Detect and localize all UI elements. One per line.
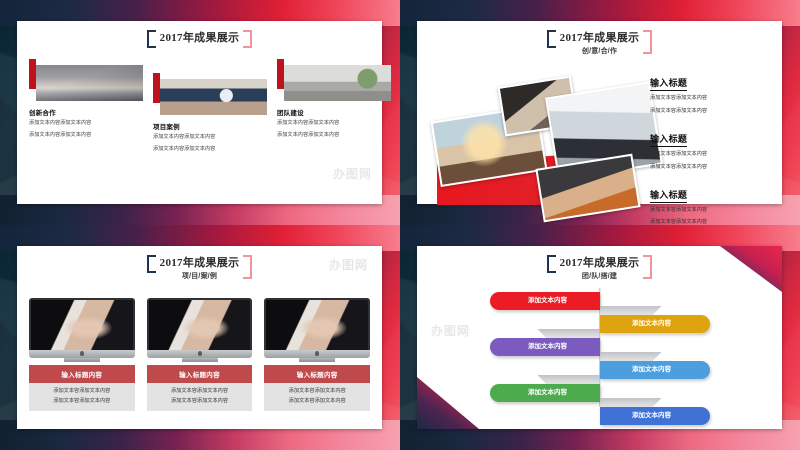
column-line-2: 添加文本容添加文本内容	[149, 397, 251, 407]
monitor-stand	[299, 358, 335, 362]
bullet-item[interactable]: 输入标题 添加文本容添加文本内容 添加文本容添加文本内容	[650, 185, 768, 226]
column-text-box: 添加文本容添加文本内容 添加文本容添加文本内容	[29, 383, 135, 411]
feature-card[interactable]: 团队建设 添加文本内容添加文本内容 添加文本内容添加文本内容	[277, 65, 391, 140]
card-line-1: 添加文本内容添加文本内容	[29, 119, 143, 129]
bullet-line-2: 添加文本容添加文本内容	[650, 107, 768, 117]
column-line-2: 添加文本容添加文本内容	[266, 397, 368, 407]
bullet-line-1: 添加文本容添加文本内容	[650, 150, 768, 160]
title-main-text: 2017年成果展示	[160, 32, 240, 44]
handshake-monitor-photo	[29, 298, 135, 350]
bracket-left-icon	[547, 30, 556, 48]
slide-title-2: 2017年成果展示 创/意/合/作	[417, 29, 782, 55]
slide-thumbnail-4[interactable]: 2017年成果展示 团/队/搭/建 添加文本内容 添加文本内容 添加文本内容	[400, 225, 800, 450]
column-line-1: 添加文本容添加文本内容	[266, 387, 368, 397]
card-line-1: 添加文本内容添加文本内容	[277, 119, 391, 129]
ribbon-fold	[538, 375, 600, 384]
bullet-text-list: 输入标题 添加文本容添加文本内容 添加文本容添加文本内容 输入标题 添加文本容添…	[650, 73, 768, 225]
bracket-right-icon	[643, 255, 652, 279]
slide-thumbnail-3[interactable]: 2017年成果展示 项/目/案/例 输入标题内容 添加文本容添加文本内容 添加文…	[0, 225, 400, 450]
bullet-line-1: 添加文本容添加文本内容	[650, 94, 768, 104]
hand-tablet-photo	[36, 65, 143, 101]
bullet-line-2: 添加文本容添加文本内容	[650, 218, 768, 225]
bracket-left-icon	[547, 255, 556, 273]
column-line-2: 添加文本容添加文本内容	[31, 397, 133, 407]
title-main-text: 2017年成果展示	[160, 257, 240, 269]
ribbon-pill[interactable]: 添加文本内容	[490, 292, 600, 310]
ribbon-pill-list: 添加文本内容 添加文本内容 添加文本内容 添加文本内容 添加文本内容	[417, 292, 782, 430]
ribbon-row: 添加文本内容	[417, 361, 782, 384]
bracket-right-icon	[243, 30, 252, 48]
bullet-heading: 输入标题	[650, 188, 687, 203]
accent-bar	[277, 59, 284, 89]
column-title-bar: 输入标题内容	[29, 365, 135, 383]
column-title-bar: 输入标题内容	[264, 365, 370, 383]
bullet-item[interactable]: 输入标题 添加文本容添加文本内容 添加文本容添加文本内容	[650, 73, 768, 117]
card-line-1: 添加文本内容添加文本内容	[153, 133, 267, 143]
monitor-column[interactable]: 输入标题内容 添加文本容添加文本内容 添加文本容添加文本内容	[29, 298, 135, 411]
column-text-box: 添加文本容添加文本内容 添加文本容添加文本内容	[147, 383, 253, 411]
monitor-graphic	[264, 298, 370, 362]
feature-card[interactable]: 创新合作 添加文本内容添加文本内容 添加文本内容添加文本内容	[29, 65, 143, 140]
card-line-2: 添加文本内容添加文本内容	[277, 131, 391, 141]
ribbon-pill[interactable]: 添加文本内容	[600, 315, 710, 333]
bracket-left-icon	[147, 30, 156, 48]
bracket-right-icon	[243, 255, 252, 279]
ribbon-fold	[600, 352, 662, 361]
column-text-box: 添加文本容添加文本内容 添加文本容添加文本内容	[264, 383, 370, 411]
ribbon-row: 添加文本内容	[417, 338, 782, 361]
handshake-monitor-photo	[147, 298, 253, 350]
bracket-right-icon	[643, 30, 652, 54]
column-line-1: 添加文本容添加文本内容	[149, 387, 251, 397]
bullet-line-2: 添加文本容添加文本内容	[650, 163, 768, 173]
ribbon-pill[interactable]: 添加文本内容	[600, 407, 710, 425]
bullet-line-1: 添加文本容添加文本内容	[650, 206, 768, 216]
apple-logo-icon	[80, 351, 84, 356]
ribbon-pill[interactable]: 添加文本内容	[600, 361, 710, 379]
title-main-text: 2017年成果展示	[560, 32, 640, 44]
ribbon-row: 添加文本内容	[417, 315, 782, 338]
slide-thumbnail-2[interactable]: 2017年成果展示 创/意/合/作 输入标题 添加文本容添加文本内容 添加文本容…	[400, 0, 800, 225]
ribbon-row: 添加文本内容	[417, 384, 782, 407]
ribbon-fold	[600, 398, 662, 407]
monitor-stand	[182, 358, 218, 362]
ribbon-pill[interactable]: 添加文本内容	[490, 384, 600, 402]
monitor-column[interactable]: 输入标题内容 添加文本容添加文本内容 添加文本容添加文本内容	[264, 298, 370, 411]
title-subtitle-text: 项/目/案/例	[160, 273, 240, 280]
handshake-monitor-photo	[264, 298, 370, 350]
apple-logo-icon	[198, 351, 202, 356]
slide-thumbnail-grid: 2017年成果展示 创新合作 添加文本内容添加文本内容 添加文本内容添加文本内容	[0, 0, 800, 450]
watermark: 办图网	[333, 165, 372, 182]
slide-canvas-2: 2017年成果展示 创/意/合/作 输入标题 添加文本容添加文本内容 添加文本容…	[417, 21, 782, 204]
monitor-stand	[64, 358, 100, 362]
bullet-heading: 输入标题	[650, 132, 687, 147]
bullet-item[interactable]: 输入标题 添加文本容添加文本内容 添加文本容添加文本内容	[650, 129, 768, 173]
card-heading: 项目案例	[153, 121, 267, 131]
apple-logo-icon	[315, 351, 319, 356]
column-line-1: 添加文本容添加文本内容	[31, 387, 133, 397]
bullet-heading: 输入标题	[650, 76, 687, 91]
card-line-2: 添加文本内容添加文本内容	[29, 131, 143, 141]
monitor-column[interactable]: 输入标题内容 添加文本容添加文本内容 添加文本容添加文本内容	[147, 298, 253, 411]
card-heading: 创新合作	[29, 107, 143, 117]
ribbon-fold	[600, 306, 662, 315]
desk-laptop-photo	[284, 65, 391, 101]
card-heading: 团队建设	[277, 107, 391, 117]
accent-bar	[29, 59, 36, 89]
title-subtitle-text: 团/队/搭/建	[560, 273, 640, 280]
slide-title-1: 2017年成果展示	[17, 29, 382, 48]
feet-tablet-photo	[160, 79, 267, 115]
ribbon-row: 添加文本内容	[417, 292, 782, 315]
ribbon-pill[interactable]: 添加文本内容	[490, 338, 600, 356]
photo-collage	[435, 77, 635, 205]
slide-canvas-3: 2017年成果展示 项/目/案/例 输入标题内容 添加文本容添加文本内容 添加文…	[17, 246, 382, 429]
ribbon-fold	[538, 329, 600, 338]
slide-title-3: 2017年成果展示 项/目/案/例	[17, 254, 382, 280]
title-main-text: 2017年成果展示	[560, 257, 640, 269]
accent-bar	[153, 73, 160, 103]
slide-canvas-1: 2017年成果展示 创新合作 添加文本内容添加文本内容 添加文本内容添加文本内容	[17, 21, 382, 204]
card-line-2: 添加文本内容添加文本内容	[153, 145, 267, 155]
monitor-graphic	[147, 298, 253, 362]
monitor-column-list: 输入标题内容 添加文本容添加文本内容 添加文本容添加文本内容 输入标题内容 添加…	[29, 298, 370, 411]
ribbon-row: 添加文本内容	[417, 407, 782, 430]
feature-card[interactable]: 项目案例 添加文本内容添加文本内容 添加文本内容添加文本内容	[153, 79, 267, 154]
slide-canvas-4: 2017年成果展示 团/队/搭/建 添加文本内容 添加文本内容 添加文本内容	[417, 246, 782, 429]
slide-title-4: 2017年成果展示 团/队/搭/建	[417, 254, 782, 280]
bracket-left-icon	[147, 255, 156, 273]
title-subtitle-text: 创/意/合/作	[560, 48, 640, 55]
slide-thumbnail-1[interactable]: 2017年成果展示 创新合作 添加文本内容添加文本内容 添加文本内容添加文本内容	[0, 0, 400, 225]
column-title-bar: 输入标题内容	[147, 365, 253, 383]
monitor-graphic	[29, 298, 135, 362]
